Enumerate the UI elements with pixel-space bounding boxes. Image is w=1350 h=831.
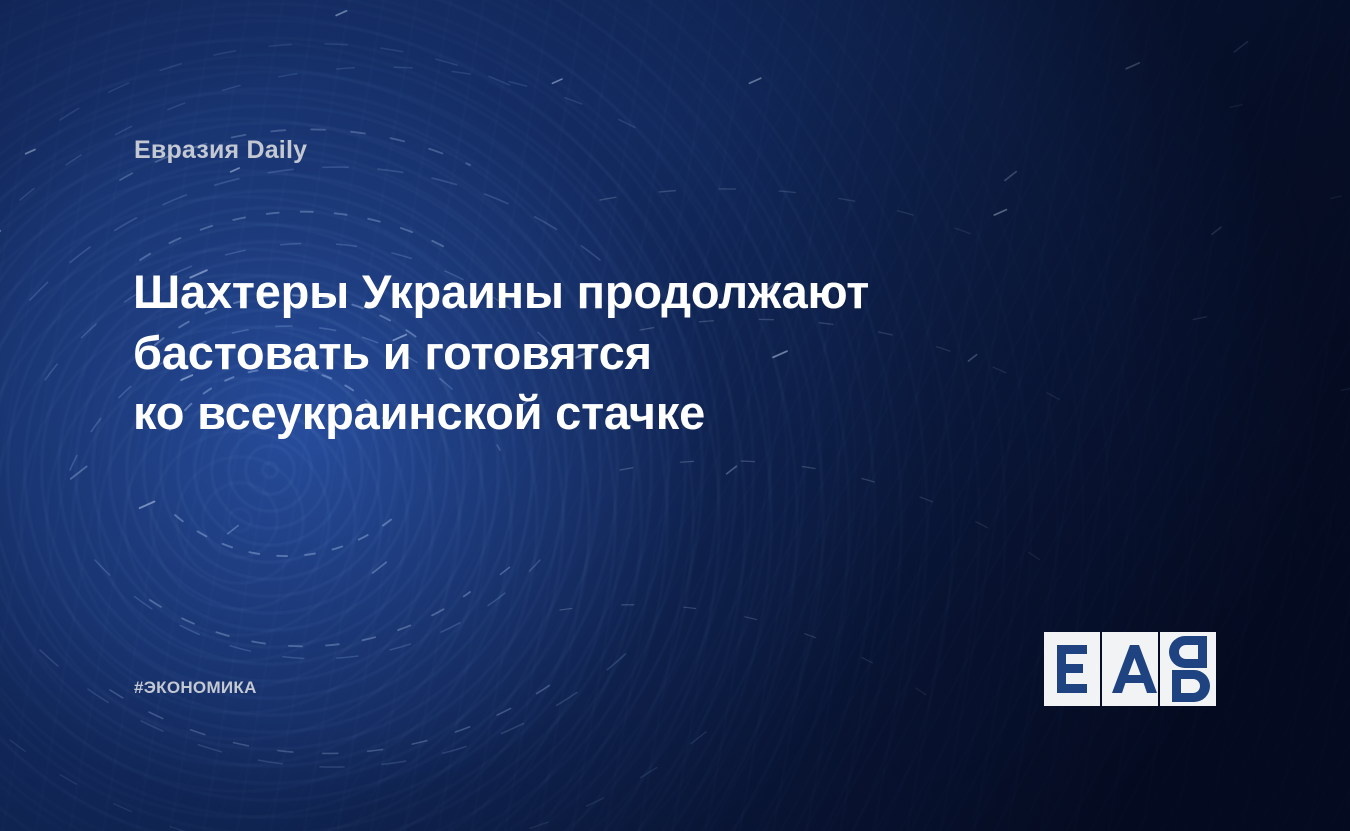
headline-line-1: Шахтеры Украины продолжают (133, 262, 1093, 323)
card-content: Евразия Daily Шахтеры Украины продолжают… (0, 0, 1350, 831)
ead-logo (1044, 630, 1224, 706)
headline: Шахтеры Украины продолжают бастовать и г… (133, 262, 1093, 444)
news-card: Евразия Daily Шахтеры Украины продолжают… (0, 0, 1350, 831)
logo-letter-e (1057, 645, 1087, 693)
brand-name: Евразия Daily (134, 136, 307, 165)
headline-line-2: бастовать и готовятся (133, 323, 1093, 384)
headline-line-3: ко всеукраинской стачке (133, 383, 1093, 444)
category-tag: #ЭКОНОМИКА (134, 678, 257, 698)
